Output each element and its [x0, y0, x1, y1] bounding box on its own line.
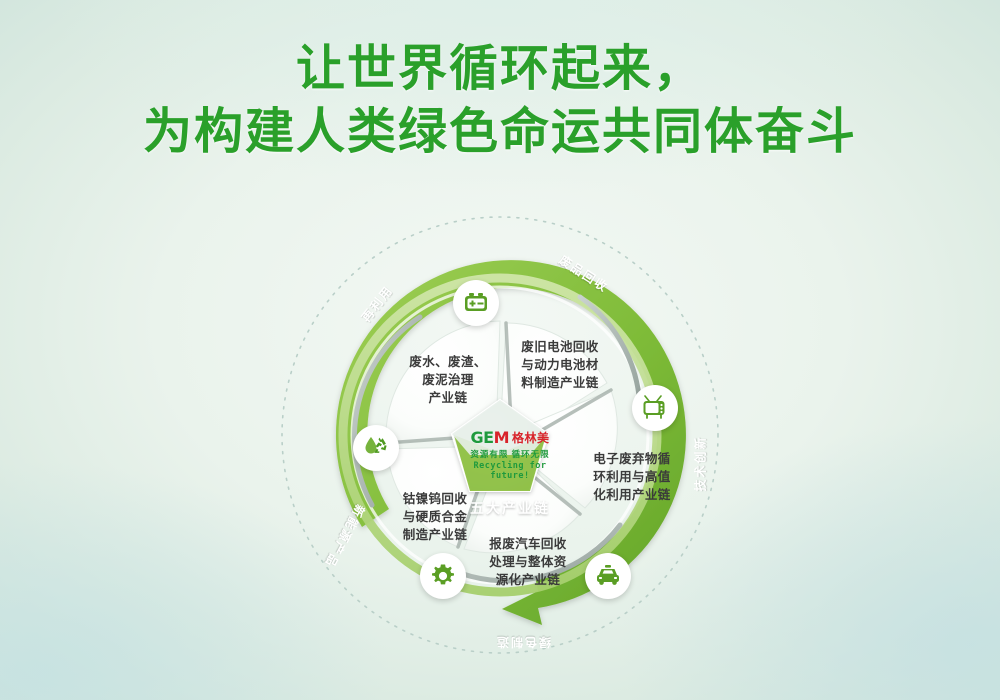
segment-icon-waste-water[interactable] [353, 425, 399, 471]
segment-icon-metals[interactable] [420, 553, 466, 599]
segment-icon-vehicle[interactable] [585, 553, 631, 599]
ring-label-tech-innovation: 技术创新 [692, 435, 709, 491]
segment-icon-battery[interactable] [453, 280, 499, 326]
segment-caption-waste-water: 废水、废渣、 废泥治理 产业链 [393, 353, 503, 407]
segment-caption-battery: 废旧电池回收 与动力电池材 料制造产业链 [505, 338, 615, 392]
logo-brand-cn: 格林美 [512, 429, 550, 446]
segment-icon-e-waste[interactable] [632, 385, 678, 431]
battery-icon [463, 290, 489, 316]
logo-slogan-en: Recycling for future! [455, 461, 565, 481]
car-icon [595, 563, 621, 589]
water-recycle-icon [362, 434, 390, 462]
title-line-2: 为构建人类绿色命运共同体奋斗 [0, 101, 1000, 164]
center-label-five-chains: 五大产业链 [455, 498, 565, 518]
ring-label-green-manufacturing: 绿色制造 [495, 634, 551, 651]
logo-brand-row: GEM 格林美 [455, 428, 565, 447]
gear-icon [430, 563, 456, 589]
segment-caption-e-waste: 电子废弃物循 环利用与高值 化利用产业链 [577, 450, 687, 504]
logo-gem-text: GEM [471, 428, 509, 447]
title-line-1: 让世界循环起来， [0, 38, 1000, 101]
page-title: 让世界循环起来， 为构建人类绿色命运共同体奋斗 [0, 38, 1000, 163]
center-logo: GEM 格林美 资源有限 循环无限 Recycling for future! … [455, 428, 565, 518]
logo-slogan-cn: 资源有限 循环无限 [455, 448, 565, 460]
television-icon [642, 395, 668, 421]
